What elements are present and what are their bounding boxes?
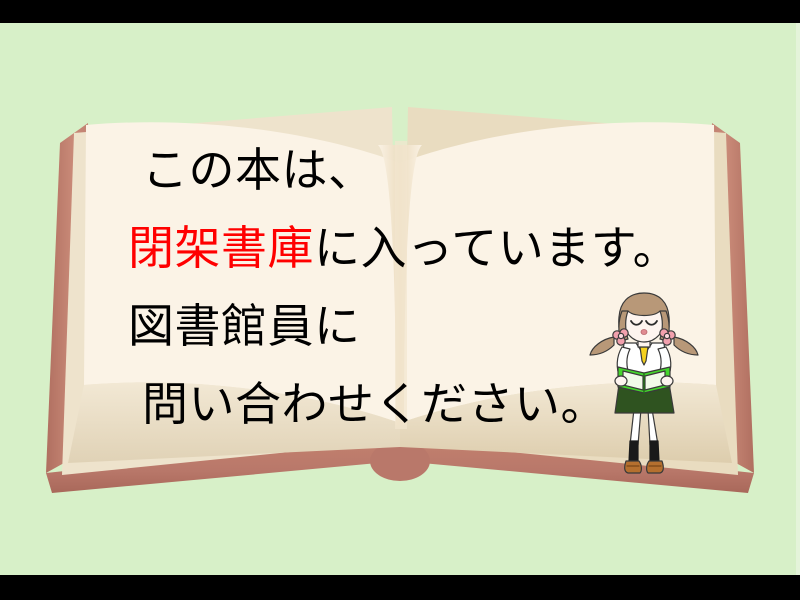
hand-right [661,376,673,386]
pigtail-right [674,337,698,355]
notice-line-2-highlight: 閉架書庫 [128,221,314,275]
notice-line-2: 閉架書庫に入っています。 [128,209,688,287]
screenshot-canvas: この本は、 閉架書庫に入っています。 図書館員に 問い合わせください。 [0,0,800,600]
letterbox-bar-bottom [0,575,800,600]
notice-line-2-text: に入っています。 [314,221,679,275]
hand-left [615,376,627,386]
sock-right [650,441,659,461]
librarian-girl-illustration [588,281,704,481]
mouth [641,330,647,335]
notice-line-1: この本は、 [128,131,688,209]
pigtail-left [590,337,614,355]
scene-background: この本は、 閉架書庫に入っています。 図書館員に 問い合わせください。 [0,23,800,575]
notice-line-4-text: 問い合わせください。 [142,377,607,431]
leg-right [648,409,658,445]
letterbox-bar-top [0,0,800,23]
shoe-left [625,461,642,473]
sock-left [629,441,638,461]
notice-line-3-text: 図書館員に [128,299,361,353]
notice-line-1-text: この本は、 [142,143,375,197]
shoe-right [647,461,664,473]
leg-left [630,409,641,445]
